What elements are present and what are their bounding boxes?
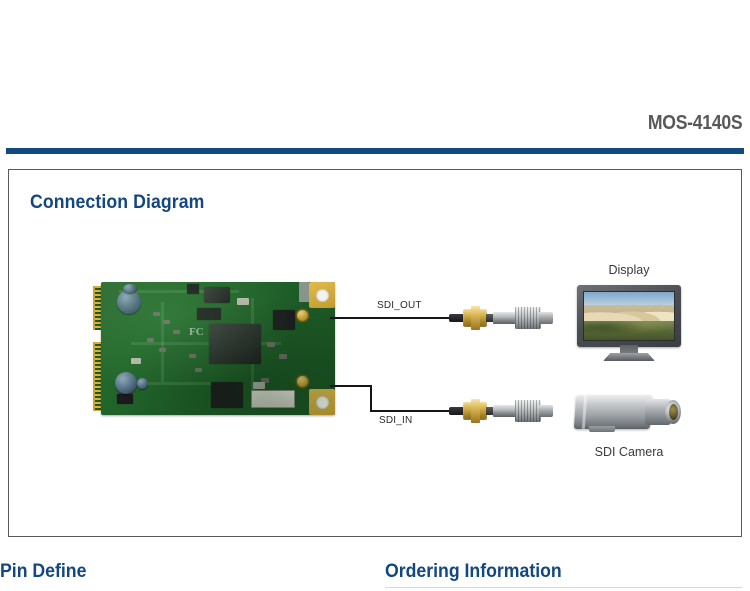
section-heading-ordering-information: Ordering Information [385,561,562,583]
wire-to-board-connector [251,390,295,408]
ic-chip [197,308,221,320]
header-divider-rule [6,148,744,154]
bnc-tip [539,312,553,324]
coax-port-sdi-in [297,376,308,387]
smd-passive [147,338,154,342]
camera-lens-glass [669,404,678,420]
smd-passive [189,354,196,358]
smd-passive [253,382,265,389]
pcb-trace [251,298,254,393]
device-label-display: Display [577,263,681,277]
monitor-screen [583,291,675,341]
cable-sdi-in-segment-3 [370,410,456,412]
device-label-sdi-camera: SDI Camera [575,445,683,459]
inductor-coil [117,290,141,314]
smd-passive [159,348,166,352]
board-notch-shield [299,282,309,302]
ordering-information-rule [385,587,742,588]
smd-passive [261,378,269,383]
inductor-coil [137,378,148,389]
sma-coupling-nut [471,306,480,330]
connection-diagram-panel: Connection Diagram [8,169,742,537]
mounting-pad-bottom-right [309,389,335,415]
coax-port-sdi-out [297,310,308,321]
smd-passive [195,368,202,372]
ic-chip [273,310,295,330]
section-heading-pin-define: Pin Define [0,561,86,583]
inductor-coil [123,284,137,293]
bnc-tip [539,405,553,417]
smd-passive [173,330,180,334]
sdi-camera [575,388,683,438]
pcb-trace [161,302,164,382]
ic-chip [204,287,230,303]
bnc-shaft [493,405,517,417]
pcb-trace [131,342,281,345]
ic-chip [117,394,133,404]
model-number: MOS-4140S [648,112,742,135]
bnc-shaft [493,312,517,324]
mounting-pad-top-right [309,282,335,308]
camera-mount-foot [589,426,615,432]
connector-assembly-sdi-in [449,396,557,426]
smd-passive [279,354,287,359]
cable-sdi-in-segment-1 [330,385,372,387]
cable-label-sdi-out: SDI_OUT [377,300,422,311]
fcc-silkscreen-mark: FC [189,326,204,338]
main-processor-ic [209,324,261,364]
display-monitor [577,285,681,363]
smd-passive [267,342,275,347]
pcb-substrate: FC [101,282,335,415]
connection-diagram-figure: FC SDI_OUT SDI_IN [9,170,743,538]
connector-assembly-sdi-out [449,303,557,333]
smd-passive [163,320,170,324]
bnc-knurled-ring [515,400,541,422]
pcb-trace [117,382,227,385]
cable-sdi-out [330,317,456,319]
ic-chip [211,382,243,408]
sma-coupling-nut [471,399,480,423]
ic-chip [187,284,199,294]
pcb-trace [119,290,239,293]
page-header: MOS-4140S [0,0,750,160]
cable-sdi-in-segment-2 [370,385,372,412]
screen-image-ground [584,321,674,340]
smd-passive [237,298,249,305]
cable-label-sdi-in: SDI_IN [379,415,412,426]
camera-body [574,395,652,429]
bnc-knurled-ring [515,307,541,329]
inductor-coil [115,372,137,394]
monitor-stand-neck [620,345,638,354]
monitor-stand-base [603,353,655,361]
mini-pcie-board: FC [93,282,335,415]
screen-image-hills [584,305,674,321]
smd-passive [131,358,141,364]
smd-passive [153,312,160,316]
